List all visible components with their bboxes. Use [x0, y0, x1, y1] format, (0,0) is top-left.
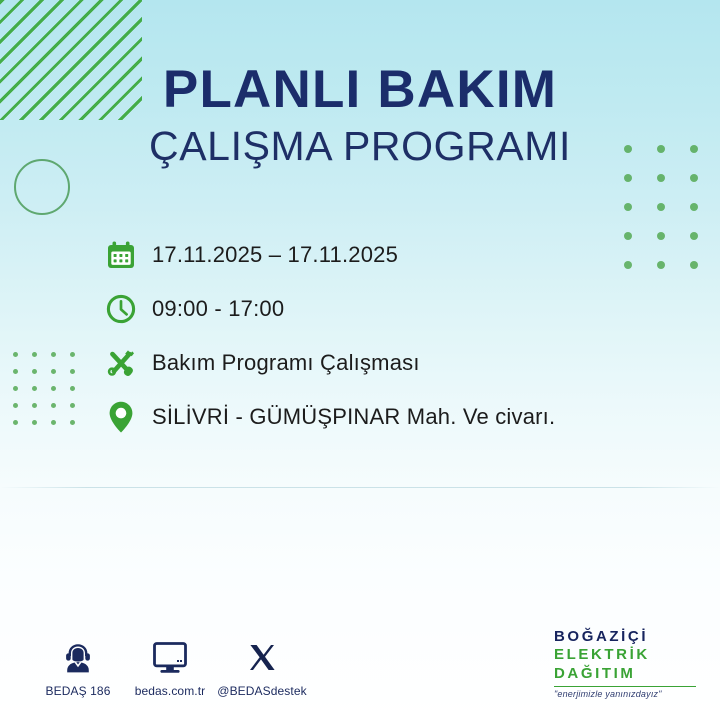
brand-logo: BOĞAZİÇİ ELEKTRİK DAĞITIM "enerjimizle y…	[554, 628, 702, 699]
x-social-icon	[216, 638, 308, 678]
contact-x-social-label: @BEDASdestek	[216, 684, 308, 698]
contact-phone-label: BEDAŞ 186	[32, 684, 124, 698]
contact-phone[interactable]: BEDAŞ 186	[32, 638, 124, 698]
title-main: PLANLI BAKIM	[0, 62, 720, 118]
info-text-date: 17.11.2025 – 17.11.2025	[152, 242, 398, 268]
contact-x-social[interactable]: @BEDASdestek	[216, 638, 308, 698]
maintenance-info-list: 17.11.2025 – 17.11.2025 09:00 - 17:00	[100, 228, 680, 444]
monitor-icon	[124, 638, 216, 678]
planned-maintenance-poster: PLANLI BAKIM ÇALIŞMA PROGRAMI	[0, 0, 720, 720]
brand-line-bogazici: BOĞAZİÇİ	[554, 628, 702, 646]
calendar-icon	[100, 233, 142, 277]
footer-contacts: BEDAŞ 186 bedas.com.tr	[32, 638, 308, 698]
page-title: PLANLI BAKIM ÇALIŞMA PROGRAMI	[0, 62, 720, 170]
support-agent-icon	[32, 638, 124, 678]
info-row-time: 09:00 - 17:00	[100, 282, 680, 336]
brand-divider	[554, 686, 696, 687]
brand-line-dagitim: DAĞITIM	[554, 665, 702, 683]
dot-grid-left-decoration	[13, 352, 89, 437]
tools-icon	[100, 341, 142, 385]
contact-website[interactable]: bedas.com.tr	[124, 638, 216, 698]
clock-icon	[100, 287, 142, 331]
info-text-time: 09:00 - 17:00	[152, 296, 284, 322]
brand-tagline: "enerjimizle yanınızdayız"	[554, 689, 702, 699]
brand-line-elektrik: ELEKTRİK	[554, 646, 702, 664]
title-subtitle: ÇALIŞMA PROGRAMI	[0, 124, 720, 170]
info-text-location: SİLİVRİ - GÜMÜŞPINAR Mah. Ve civarı.	[152, 404, 555, 430]
contact-website-label: bedas.com.tr	[124, 684, 216, 698]
info-row-location: SİLİVRİ - GÜMÜŞPINAR Mah. Ve civarı.	[100, 390, 680, 444]
info-text-work-type: Bakım Programı Çalışması	[152, 350, 420, 376]
info-row-date: 17.11.2025 – 17.11.2025	[100, 228, 680, 282]
section-divider	[0, 487, 720, 488]
info-row-work-type: Bakım Programı Çalışması	[100, 336, 680, 390]
location-pin-icon	[100, 395, 142, 439]
